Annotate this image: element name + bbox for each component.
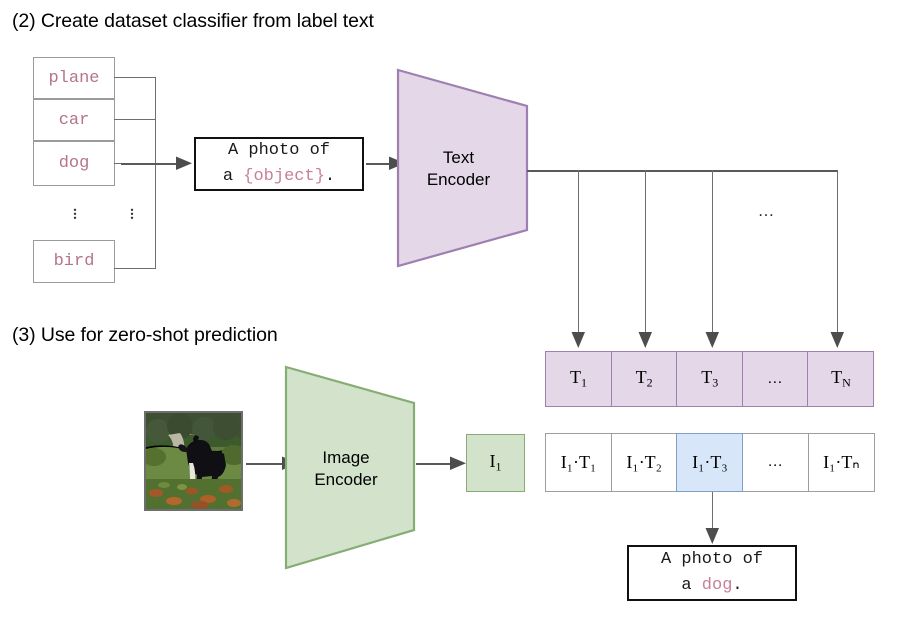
drop-line-tn (837, 170, 838, 338)
text-embedding-cell-t1-label: T1 (570, 367, 587, 390)
prompt-object-slot: {object} (243, 167, 325, 186)
text-bus-ellipsis: … (758, 203, 776, 221)
step2-heading: (2) Create dataset classifier from label… (12, 10, 374, 33)
text-embedding-cell-t3-label: T3 (701, 367, 718, 390)
similarity-cell-1[interactable]: I₁·T₁ (545, 433, 612, 492)
label-box-car[interactable]: car (33, 99, 115, 141)
prediction-line-2: a dog. (681, 573, 742, 599)
image-embedding-box[interactable]: I1 (466, 434, 525, 492)
prompt-template-box[interactable]: A photo of a {object}. (194, 137, 364, 191)
image-encoder-shape[interactable] (284, 365, 417, 570)
drop-line-t1 (578, 170, 579, 338)
arrow-photo-to-image-encoder-line (246, 463, 286, 465)
label-text-car: car (59, 111, 90, 130)
label-list-ellipsis-icon: ... (60, 203, 90, 215)
similarity-cell-2-label: I₁·T₂ (626, 452, 662, 473)
step3-heading: (3) Use for zero-shot prediction (12, 324, 278, 347)
prompt-line-2: a {object}. (223, 164, 335, 190)
prediction-period: . (732, 576, 742, 595)
clip-zero-shot-diagram: (2) Create dataset classifier from label… (0, 0, 906, 624)
text-embedding-ellipsis-label: … (767, 371, 783, 388)
similarity-cell-3-label: I₁·T₃ (692, 452, 728, 473)
arrow-labels-to-prompt-line (121, 163, 179, 165)
arrow-image-encoder-to-i1-line (416, 463, 454, 465)
connector-stub-plane (114, 77, 156, 78)
label-text-dog: dog (59, 154, 90, 173)
text-embedding-cell-tn-label: TN (831, 367, 851, 390)
text-encoder-shape[interactable] (396, 68, 530, 268)
text-embedding-row: T1 T2 T3 … TN (545, 351, 874, 407)
connector-ellipsis-icon: ... (117, 203, 147, 215)
prediction-article: a (681, 576, 701, 595)
connector-stub-car (114, 119, 156, 120)
connector-spine (155, 77, 156, 269)
text-embedding-cell-tn[interactable]: TN (807, 351, 874, 407)
prompt-period: . (325, 167, 335, 186)
prediction-line-1: A photo of (661, 547, 763, 573)
text-embedding-cell-t1[interactable]: T1 (545, 351, 612, 407)
text-embedding-cell-t2-label: T2 (636, 367, 653, 390)
arrow-selection-to-prediction-head (704, 528, 721, 546)
arrow-head-t3 (704, 332, 721, 350)
arrow-head-t1 (570, 332, 587, 350)
similarity-cell-n[interactable]: I₁·Tₙ (808, 433, 875, 492)
label-box-bird[interactable]: bird (33, 240, 115, 283)
similarity-cell-ellipsis: … (742, 433, 809, 492)
black-dog-in-grass-photo (146, 413, 241, 509)
drop-line-t2 (645, 170, 646, 338)
arrow-selection-to-prediction-line (712, 492, 713, 532)
connector-stub-bird (114, 268, 156, 269)
similarity-row: I₁·T₁ I₁·T₂ I₁·T₃ … I₁·Tₙ (545, 433, 875, 492)
text-output-bus (527, 170, 838, 172)
prediction-class: dog (702, 576, 733, 595)
text-embedding-cell-t2[interactable]: T2 (611, 351, 678, 407)
arrow-labels-to-prompt-head (176, 155, 194, 172)
image-embedding-label: I1 (490, 451, 502, 474)
text-embedding-cell-ellipsis: … (742, 351, 809, 407)
text-embedding-cell-t3[interactable]: T3 (676, 351, 743, 407)
arrow-head-tn (829, 332, 846, 350)
label-text-plane: plane (48, 69, 99, 88)
label-text-bird: bird (54, 252, 95, 271)
label-box-dog[interactable]: dog (33, 141, 115, 186)
similarity-cell-2[interactable]: I₁·T₂ (611, 433, 678, 492)
similarity-cell-1-label: I₁·T₁ (561, 452, 597, 473)
similarity-cell-n-label: I₁·Tₙ (823, 452, 859, 473)
prompt-line-1: A photo of (228, 138, 330, 164)
prompt-article: a (223, 167, 243, 186)
input-photo[interactable] (144, 411, 243, 511)
similarity-cell-3-selected[interactable]: I₁·T₃ (676, 433, 743, 492)
prediction-box[interactable]: A photo of a dog. (627, 545, 797, 601)
label-box-plane[interactable]: plane (33, 57, 115, 99)
similarity-ellipsis-label: … (768, 454, 784, 471)
drop-line-t3 (712, 170, 713, 338)
arrow-head-t2 (637, 332, 654, 350)
